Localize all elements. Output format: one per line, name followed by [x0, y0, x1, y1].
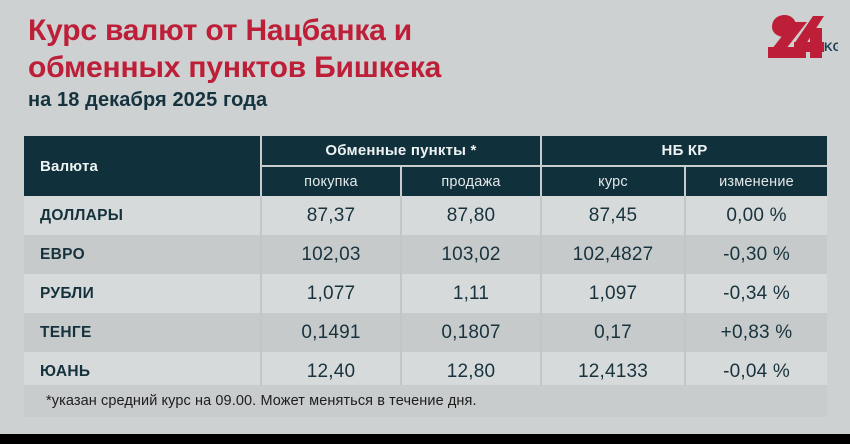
table-row: ДОЛЛАРЫ 87,37 87,80 87,45 0,00 %: [24, 196, 827, 235]
cell-sell: 0,1807: [401, 313, 541, 352]
cell-buy: 87,37: [261, 196, 401, 235]
page-title-line-1: Курс валют от Нацбанка и: [28, 12, 728, 49]
currency-rates-table: Валюта Обменные пункты * НБ КР покупка п…: [24, 136, 827, 391]
cell-rate: 1,097: [541, 274, 685, 313]
page-title: Курс валют от Нацбанка и обменных пункто…: [28, 12, 728, 86]
cell-currency-name: ДОЛЛАРЫ: [24, 196, 261, 235]
column-header-sell: продажа: [401, 166, 541, 196]
header: Курс валют от Нацбанка и обменных пункто…: [0, 0, 850, 130]
logo-kg-text: KG: [824, 40, 838, 54]
table-header: Валюта Обменные пункты * НБ КР покупка п…: [24, 136, 827, 196]
table-header-row-groups: Валюта Обменные пункты * НБ КР: [24, 136, 827, 166]
page-subtitle: на 18 декабря 2025 года: [28, 89, 267, 112]
table-row: ЕВРО 102,03 103,02 102,4827 -0,30 %: [24, 235, 827, 274]
column-header-change: изменение: [685, 166, 827, 196]
cell-currency-name: ТЕНГЕ: [24, 313, 261, 352]
infographic-page: Курс валют от Нацбанка и обменных пункто…: [0, 0, 850, 444]
footnote: *указан средний курс на 09.00. Может мен…: [24, 385, 827, 417]
cell-change: -0,34 %: [685, 274, 827, 313]
cell-currency-name: РУБЛИ: [24, 274, 261, 313]
column-group-nbkr: НБ КР: [541, 136, 827, 166]
24kg-logo: KG: [766, 14, 838, 60]
cell-sell: 1,11: [401, 274, 541, 313]
table-body: ДОЛЛАРЫ 87,37 87,80 87,45 0,00 % ЕВРО 10…: [24, 196, 827, 391]
cell-change: +0,83 %: [685, 313, 827, 352]
column-group-exchange-points: Обменные пункты *: [261, 136, 541, 166]
table-row: РУБЛИ 1,077 1,11 1,097 -0,34 %: [24, 274, 827, 313]
cell-currency-name: ЕВРО: [24, 235, 261, 274]
cell-rate: 0,17: [541, 313, 685, 352]
cell-change: -0,30 %: [685, 235, 827, 274]
column-header-buy: покупка: [261, 166, 401, 196]
cell-sell: 87,80: [401, 196, 541, 235]
page-title-line-2: обменных пунктов Бишкека: [28, 49, 728, 86]
column-header-rate: курс: [541, 166, 685, 196]
cell-sell: 103,02: [401, 235, 541, 274]
cell-rate: 87,45: [541, 196, 685, 235]
logo-mark-icon: KG: [766, 14, 838, 60]
footnote-text: *указан средний курс на 09.00. Может мен…: [24, 393, 477, 409]
cell-rate: 102,4827: [541, 235, 685, 274]
cell-buy: 1,077: [261, 274, 401, 313]
cell-buy: 102,03: [261, 235, 401, 274]
cell-buy: 0,1491: [261, 313, 401, 352]
bottom-bar: [0, 434, 850, 444]
cell-change: 0,00 %: [685, 196, 827, 235]
column-header-currency: Валюта: [24, 136, 261, 196]
table-row: ТЕНГЕ 0,1491 0,1807 0,17 +0,83 %: [24, 313, 827, 352]
